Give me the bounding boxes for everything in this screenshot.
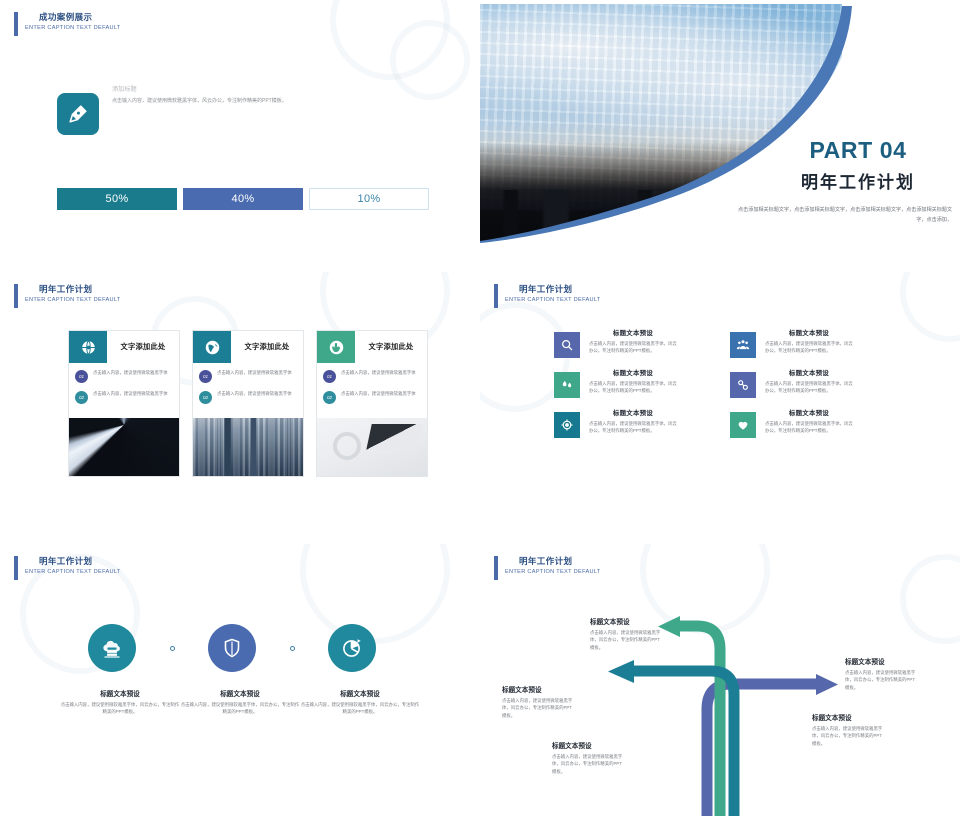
- part-title: 明年工作计划: [768, 168, 948, 193]
- watermark-circle: [900, 272, 960, 342]
- feature-item[interactable]: 标题文本预设 点击输入内容，建议使用微软雅黑字体，风云办公，专注制作精美的PPT…: [730, 368, 906, 398]
- feature-item[interactable]: 标题文本预设 点击输入内容，建议使用微软雅黑字体，风云办公，专注制作精美的PPT…: [554, 328, 730, 358]
- info-card[interactable]: 文字添加此处 01 点击输入内容，建议使用微软雅黑字体 02 点击输入内容，建议…: [316, 330, 428, 477]
- circle-node-group: [88, 624, 376, 672]
- card-list-item: 01 点击输入内容，建议使用微软雅黑字体: [323, 369, 421, 383]
- card-list-item: 01 点击输入内容，建议使用微软雅黑字体: [75, 369, 173, 383]
- hand-click-icon: [317, 331, 355, 363]
- feature-desc: 点击输入内容，建议使用微软雅黑字体，风云办公，专注制作精美的PPT模板。: [589, 380, 677, 394]
- caption-subtitle: ENTER CAPTION TEXT DEFAULT: [25, 568, 121, 577]
- card-group: 文字添加此处 01 点击输入内容，建议使用微软雅黑字体 02 点击输入内容，建议…: [68, 330, 428, 477]
- feature-title: 标题文本预设: [765, 408, 853, 417]
- slide-six-features[interactable]: 明年工作计划 ENTER CAPTION TEXT DEFAULT 标题文本预设…: [480, 272, 960, 544]
- info-card[interactable]: 文字添加此处 01 点击输入内容，建议使用微软雅黑字体 02 点击输入内容，建议…: [68, 330, 180, 477]
- content-block: 添加标题 点击输入内容，建议使用微软雅黑字体，风云办公，专注制作精美的PPT模板…: [112, 85, 412, 105]
- slide-three-cards[interactable]: 明年工作计划 ENTER CAPTION TEXT DEFAULT 文字添加此: [0, 272, 480, 544]
- arrow-label: 标题文本预设 点击输入内容，建议使用微软雅黑字体，风云办公，专注制作精美的PPT…: [812, 712, 886, 747]
- caption-title: 明年工作计划: [505, 284, 601, 295]
- node-desc: 点击输入内容，建议使用微软雅黑字体，风云办公，专注制作精美的PPT模板。: [300, 701, 420, 716]
- caption-subtitle: ENTER CAPTION TEXT DEFAULT: [25, 296, 121, 305]
- item-number: 01: [75, 370, 88, 383]
- pie-chart-icon[interactable]: [328, 624, 376, 672]
- slide-caption: 成功案例展示 ENTER CAPTION TEXT DEFAULT: [14, 12, 121, 36]
- feature-desc: 点击输入内容，建议使用微软雅黑字体，风云办公，专注制作精美的PPT模板。: [765, 420, 853, 434]
- item-number: 02: [323, 391, 336, 404]
- cloud-server-icon[interactable]: [88, 624, 136, 672]
- shield-icon[interactable]: [208, 624, 256, 672]
- card-list-item: 02 点击输入内容，建议使用微软雅黑字体: [323, 390, 421, 404]
- arrow-desc: 点击输入内容，建议使用微软雅黑字体，风云办公，专注制作精美的PPT模板。: [552, 753, 626, 775]
- connector-dot: [136, 646, 208, 651]
- feature-title: 标题文本预设: [589, 368, 677, 377]
- feature-desc: 点击输入内容，建议使用微软雅黑字体，风云办公，专注制作精美的PPT模板。: [589, 340, 677, 354]
- item-number: 02: [75, 391, 88, 404]
- feature-item[interactable]: 标题文本预设 点击输入内容，建议使用微软雅黑字体，风云办公，专注制作精美的PPT…: [730, 408, 906, 438]
- card-list-item: 02 点击输入内容，建议使用微软雅黑字体: [199, 390, 297, 404]
- node-title: 标题文本预设: [180, 688, 300, 698]
- caption-title: 成功案例展示: [25, 12, 121, 23]
- feature-desc: 点击输入内容，建议使用微软雅黑字体，风云办公，专注制作精美的PPT模板。: [589, 420, 677, 434]
- item-text: 点击输入内容，建议使用微软雅黑字体: [341, 390, 416, 397]
- caption-subtitle: ENTER CAPTION TEXT DEFAULT: [505, 296, 601, 305]
- arrow-title: 标题文本预设: [502, 684, 574, 694]
- arrow-desc: 点击输入内容，建议使用微软雅黑字体，风云办公，专注制作精美的PPT模板。: [590, 629, 662, 651]
- slide-caption: 明年工作计划 ENTER CAPTION TEXT DEFAULT: [14, 284, 121, 308]
- node-title: 标题文本预设: [300, 688, 420, 698]
- part-subtitle: 点击添加相关标题文字，点击添加相关标题文字，点击添加相关标题文字，点击添加相关标…: [738, 206, 952, 225]
- item-number: 02: [199, 391, 212, 404]
- dark-architecture-photo: [69, 418, 179, 476]
- globe-pin-icon: [193, 331, 231, 363]
- arrow-desc: 点击输入内容，建议使用微软雅黑字体，风云办公，专注制作精美的PPT模板。: [502, 697, 574, 719]
- item-text: 点击输入内容，建议使用微软雅黑字体: [217, 369, 292, 376]
- circle-label: 标题文本预设 点击输入内容，建议使用微软雅黑字体，风云办公，专注制作精美的PPT…: [180, 688, 300, 716]
- slide-caption: 明年工作计划 ENTER CAPTION TEXT DEFAULT: [494, 284, 601, 308]
- link-chain-icon: [730, 372, 756, 398]
- caption-title: 明年工作计划: [25, 556, 121, 567]
- card-title: 文字添加此处: [231, 331, 303, 363]
- slide-three-circles[interactable]: 明年工作计划 ENTER CAPTION TEXT DEFAULT: [0, 544, 480, 816]
- pen-nib-icon: [57, 93, 99, 135]
- card-list-item: 01 点击输入内容，建议使用微软雅黑字体: [199, 369, 297, 383]
- desk-laptop-photo: [317, 418, 427, 476]
- arrow-label: 标题文本预设 点击输入内容，建议使用微软雅黑字体，风云办公，专注制作精美的PPT…: [590, 616, 662, 651]
- feature-desc: 点击输入内容，建议使用微软雅黑字体，风云办公，专注制作精美的PPT模板。: [765, 340, 853, 354]
- arrow-title: 标题文本预设: [812, 712, 886, 722]
- percentage-bar[interactable]: 50%: [57, 188, 177, 210]
- percentage-bar-group: 50% 40% 10%: [57, 188, 429, 210]
- feature-title: 标题文本预设: [765, 328, 853, 337]
- feature-desc: 点击输入内容，建议使用微软雅黑字体，风云办公，专注制作精美的PPT模板。: [765, 380, 853, 394]
- card-title: 文字添加此处: [107, 331, 179, 363]
- caption-accent-bar: [14, 12, 18, 36]
- search-icon: [554, 332, 580, 358]
- percentage-bar[interactable]: 40%: [183, 188, 303, 210]
- feature-item[interactable]: 标题文本预设 点击输入内容，建议使用微软雅黑字体，风云办公，专注制作精美的PPT…: [730, 328, 906, 358]
- heart-icon: [730, 412, 756, 438]
- blue-s-curve-band: [480, 0, 960, 272]
- caption-accent-bar: [14, 284, 18, 308]
- percentage-bar[interactable]: 10%: [309, 188, 429, 210]
- city-skyline-photo: [193, 418, 303, 476]
- caption-accent-bar: [494, 284, 498, 308]
- circle-label: 标题文本预设 点击输入内容，建议使用微软雅黑字体，风云办公，专注制作精美的PPT…: [60, 688, 180, 716]
- item-number: 01: [199, 370, 212, 383]
- slide-thumbnail-deck: 成功案例展示 ENTER CAPTION TEXT DEFAULT 添加标题 点…: [0, 0, 960, 816]
- slide-part-04-cover[interactable]: PART 04 明年工作计划 点击添加相关标题文字，点击添加相关标题文字，点击添…: [480, 0, 960, 272]
- circle-label: 标题文本预设 点击输入内容，建议使用微软雅黑字体，风云办公，专注制作精美的PPT…: [300, 688, 420, 716]
- card-list-item: 02 点击输入内容，建议使用微软雅黑字体: [75, 390, 173, 404]
- caption-subtitle: ENTER CAPTION TEXT DEFAULT: [25, 24, 121, 33]
- arrow-label: 标题文本预设 点击输入内容，建议使用微软雅黑字体，风云办公，专注制作精美的PPT…: [552, 740, 626, 775]
- people-icon: [730, 332, 756, 358]
- arrow-label: 标题文本预设 点击输入内容，建议使用微软雅黑字体，风云办公，专注制作精美的PPT…: [845, 656, 919, 691]
- block-title: 添加标题: [112, 85, 412, 95]
- item-text: 点击输入内容，建议使用微软雅黑字体: [93, 369, 168, 376]
- arrow-title: 标题文本预设: [845, 656, 919, 666]
- feature-title: 标题文本预设: [765, 368, 853, 377]
- node-desc: 点击输入内容，建议使用微软雅黑字体，风云办公，专注制作精美的PPT模板。: [180, 701, 300, 716]
- feature-item[interactable]: 标题文本预设 点击输入内容，建议使用微软雅黑字体，风云办公，专注制作精美的PPT…: [554, 408, 730, 438]
- arrow-label: 标题文本预设 点击输入内容，建议使用微软雅黑字体，风云办公，专注制作精美的PPT…: [502, 684, 574, 719]
- item-text: 点击输入内容，建议使用微软雅黑字体: [217, 390, 292, 397]
- arrow-desc: 点击输入内容，建议使用微软雅黑字体，风云办公，专注制作精美的PPT模板。: [845, 669, 919, 691]
- slide-success-cases[interactable]: 成功案例展示 ENTER CAPTION TEXT DEFAULT 添加标题 点…: [0, 0, 480, 272]
- item-number: 01: [323, 370, 336, 383]
- info-card[interactable]: 文字添加此处 01 点击输入内容，建议使用微软雅黑字体 02 点击输入内容，建议…: [192, 330, 304, 477]
- globe-network-icon: [69, 331, 107, 363]
- arrow-desc: 点击输入内容，建议使用微软雅黑字体，风云办公，专注制作精美的PPT模板。: [812, 725, 886, 747]
- item-text: 点击输入内容，建议使用微软雅黑字体: [341, 369, 416, 376]
- part-number: PART 04: [768, 137, 948, 164]
- arrow-title: 标题文本预设: [590, 616, 662, 626]
- feature-title: 标题文本预设: [589, 408, 677, 417]
- connector-dot: [256, 646, 328, 651]
- node-title: 标题文本预设: [60, 688, 180, 698]
- feature-grid: 标题文本预设 点击输入内容，建议使用微软雅黑字体，风云办公，专注制作精美的PPT…: [554, 328, 906, 438]
- feature-item[interactable]: 标题文本预设 点击输入内容，建议使用微软雅黑字体，风云办公，专注制作精美的PPT…: [554, 368, 730, 398]
- slide-branching-arrows[interactable]: 明年工作计划 ENTER CAPTION TEXT DEFAULT 标题文本预设…: [480, 544, 960, 816]
- card-title: 文字添加此处: [355, 331, 427, 363]
- block-description: 点击输入内容，建议使用微软雅黑字体，风云办公，专注制作精美的PPT模板。: [112, 97, 412, 105]
- caption-title: 明年工作计划: [25, 284, 121, 295]
- arrow-title: 标题文本预设: [552, 740, 626, 750]
- item-text: 点击输入内容，建议使用微软雅黑字体: [93, 390, 168, 397]
- node-desc: 点击输入内容，建议使用微软雅黑字体，风云办公，专注制作精美的PPT模板。: [60, 701, 180, 716]
- slide-caption: 明年工作计划 ENTER CAPTION TEXT DEFAULT: [14, 556, 121, 580]
- target-icon: [554, 412, 580, 438]
- caption-accent-bar: [14, 556, 18, 580]
- circle-label-group: 标题文本预设 点击输入内容，建议使用微软雅黑字体，风云办公，专注制作精美的PPT…: [60, 688, 420, 716]
- water-drops-icon: [554, 372, 580, 398]
- feature-title: 标题文本预设: [589, 328, 677, 337]
